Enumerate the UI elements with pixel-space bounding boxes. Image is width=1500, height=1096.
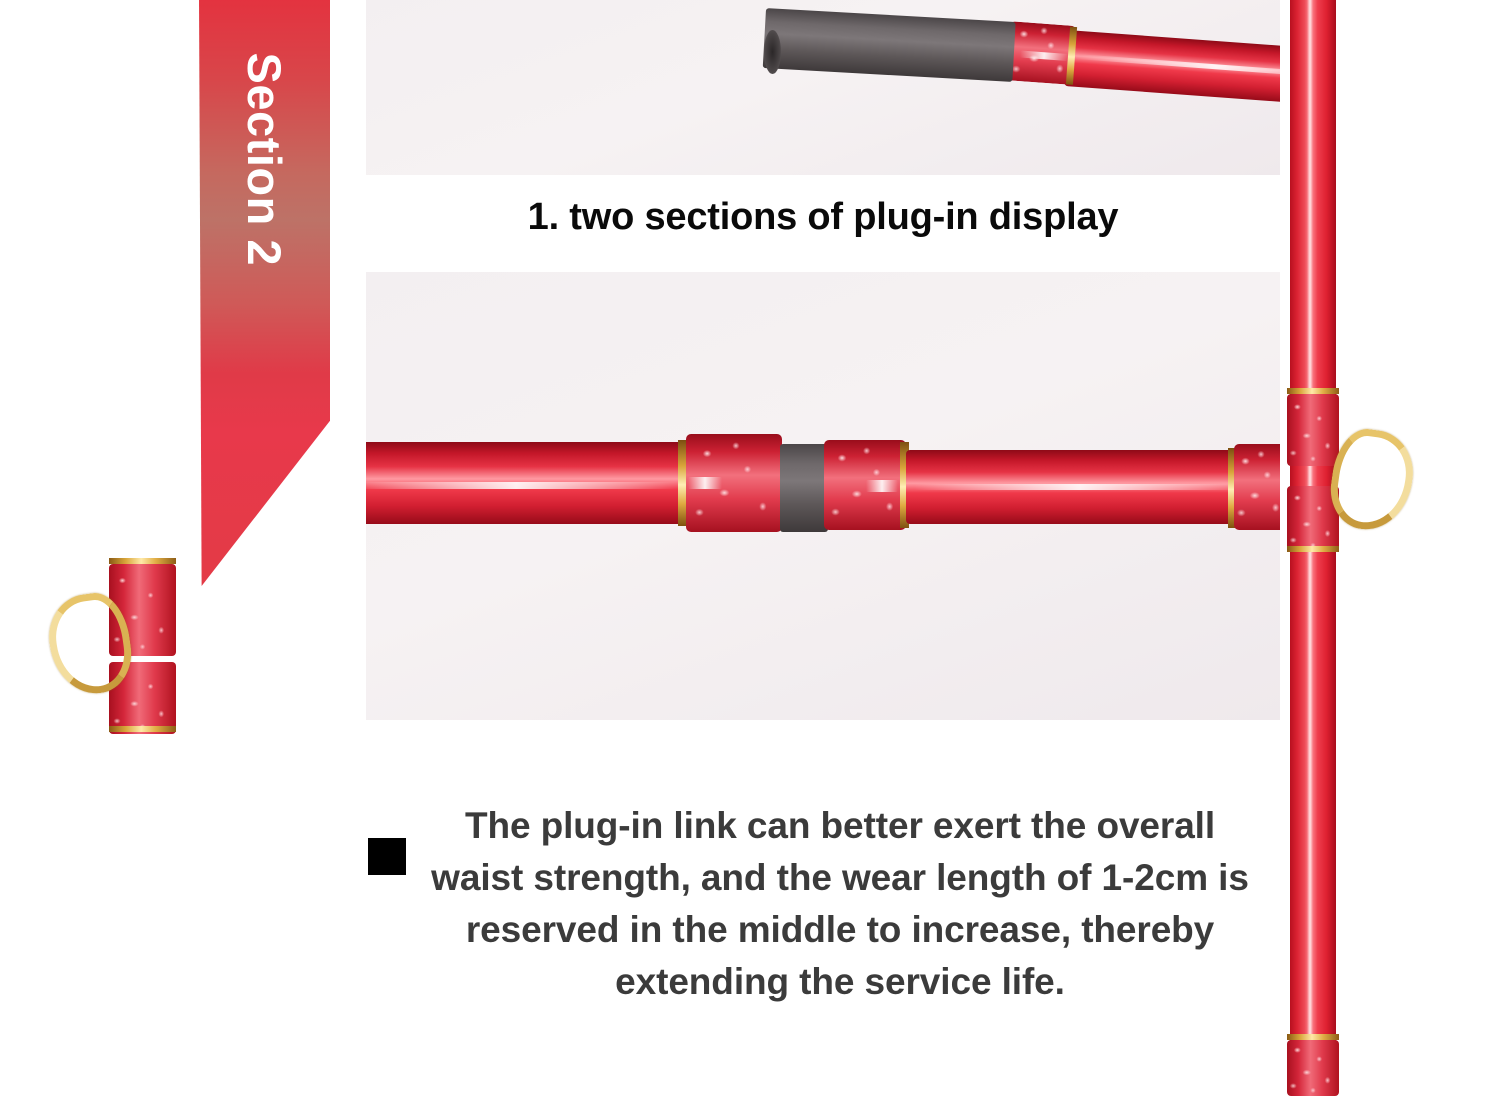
photo-assembled-joint-closeup <box>366 272 1280 720</box>
caption-plugin-display: 1. two sections of plug-in display <box>366 196 1280 239</box>
feature-block: The plug-in link can better exert the ov… <box>360 800 1260 1008</box>
square-bullet-icon <box>368 838 406 875</box>
feature-text: The plug-in link can better exert the ov… <box>360 800 1260 1008</box>
rod-right-gold-band-bottom <box>1287 546 1339 552</box>
photo2-left-rod-specular <box>366 482 676 489</box>
photo2-right-wrap-specular <box>866 480 898 492</box>
photo1-ferrule-bore <box>764 30 781 74</box>
photo2-right-rod-specular <box>914 484 1244 490</box>
rod-left-gold-band-bottom <box>109 726 176 732</box>
photo-carbon-ferrule-closeup <box>366 0 1280 175</box>
photo2-carbon-gap <box>780 444 828 532</box>
rod-right-line-guide-icon <box>1325 425 1418 535</box>
photo2-left-wrap-specular <box>688 477 722 489</box>
section-banner-label: Section 2 <box>199 0 330 586</box>
photo2-far-thread-wrap <box>1234 444 1280 530</box>
rod-left-shaft <box>112 0 173 1096</box>
rod-right-thread-wrap-upper <box>1287 394 1339 466</box>
section-banner: Section 2 <box>199 0 330 586</box>
photo1-carbon-ferrule <box>763 8 1016 82</box>
rod-left <box>112 0 173 1096</box>
rod-right <box>1290 0 1336 1096</box>
rod-left-highlight <box>135 0 141 1096</box>
rod-right-thread-wrap-foot <box>1287 1040 1339 1096</box>
